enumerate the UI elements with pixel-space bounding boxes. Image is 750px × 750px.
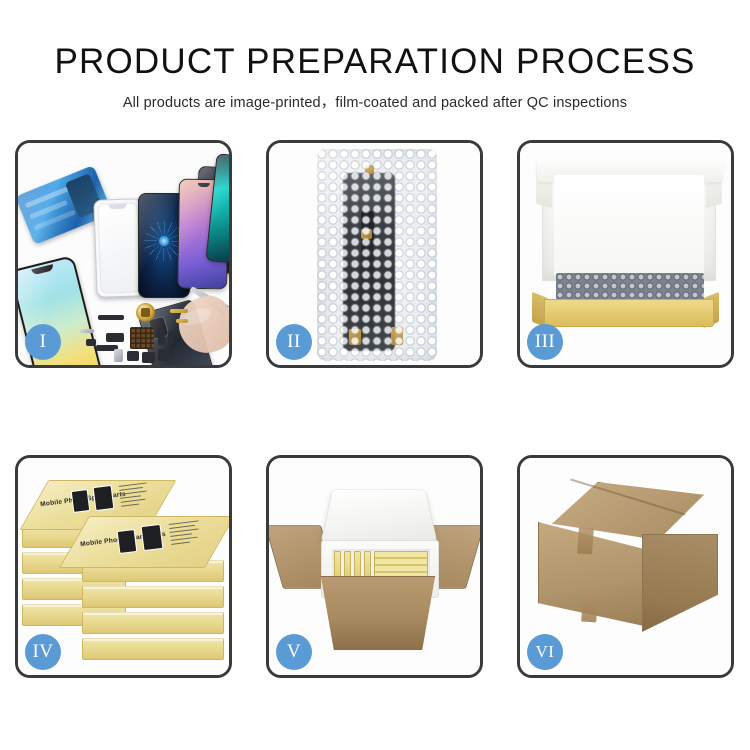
shipping-carton xyxy=(538,482,718,632)
box-window-graphic xyxy=(141,524,164,551)
small-component-part xyxy=(142,352,155,363)
chip-array-part xyxy=(130,327,154,349)
carton-tape xyxy=(577,528,594,555)
gold-connector-part xyxy=(170,309,188,313)
process-step-card-3: III xyxy=(517,140,734,368)
process-step-card-1: I xyxy=(15,140,232,368)
step-badge-5: V xyxy=(276,634,312,670)
foam-sheet xyxy=(554,175,704,275)
carton-tape xyxy=(581,598,598,623)
process-step-card-2: II xyxy=(266,140,483,368)
tape-marker xyxy=(365,165,374,174)
page-subtitle: All products are image-printed，film-coat… xyxy=(0,91,750,112)
tape-marker xyxy=(361,229,372,239)
small-component-part xyxy=(127,351,139,361)
carton-body xyxy=(313,576,443,650)
box-spec-lines xyxy=(169,520,204,548)
process-step-grid: I II xyxy=(15,140,735,680)
box-edge xyxy=(82,612,224,634)
process-step-card-6: VI xyxy=(517,455,734,678)
carton-side-face xyxy=(642,534,718,632)
foam-box-lid xyxy=(321,489,438,542)
small-component-part xyxy=(106,333,124,342)
step-badge-6: VI xyxy=(527,634,563,670)
carton-top-face xyxy=(552,482,704,540)
box-edge xyxy=(82,638,224,660)
small-component-part xyxy=(168,331,174,344)
step-badge-4: IV xyxy=(25,634,61,670)
kraft-box-front xyxy=(544,299,714,327)
small-component-part xyxy=(158,349,168,361)
small-component-part xyxy=(86,339,96,346)
step-badge-3: III xyxy=(527,324,563,360)
box-window-graphic xyxy=(93,485,115,511)
metal-bracket-part xyxy=(80,329,94,333)
small-component-part xyxy=(158,329,165,345)
speaker-part-icon xyxy=(136,303,155,322)
tape-marker xyxy=(349,329,361,345)
page-header: PRODUCT PREPARATION PROCESS All products… xyxy=(0,0,750,112)
product-preparation-infographic: PRODUCT PREPARATION PROCESS All products… xyxy=(0,0,750,750)
step-badge-2: II xyxy=(276,324,312,360)
gold-connector-part xyxy=(176,319,188,323)
box-window-graphic xyxy=(117,529,138,554)
tape-marker xyxy=(391,327,403,345)
process-step-card-5: V xyxy=(266,455,483,678)
box-window-graphic xyxy=(71,489,91,513)
screen-protector-icon xyxy=(93,198,144,298)
box-spec-lines xyxy=(119,482,152,509)
box-edge xyxy=(82,586,224,608)
bubble-wrapped-contents xyxy=(556,273,704,301)
page-title: PRODUCT PREPARATION PROCESS xyxy=(0,42,750,82)
step-badge-1: I xyxy=(25,324,61,360)
metal-bracket-part xyxy=(114,349,123,362)
flex-cable-part xyxy=(98,315,124,320)
process-step-card-4: Mobile Phone Spare Parts Mobile Phone Sp… xyxy=(15,455,232,678)
